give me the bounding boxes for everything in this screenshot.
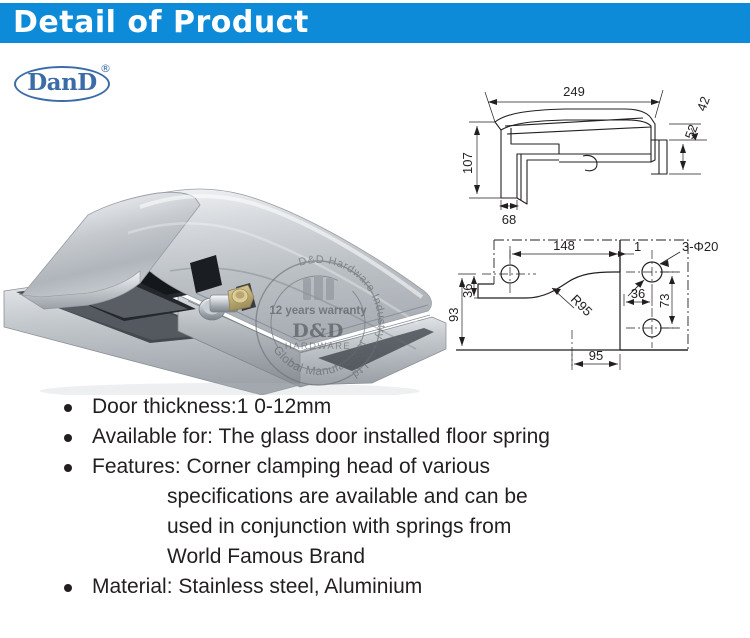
spec-row: Material: Stainless steel, Aluminium bbox=[62, 572, 702, 602]
dim-249: 249 bbox=[563, 84, 585, 99]
dim-52: 52 bbox=[682, 122, 701, 141]
spec-row: specifications are available and can be bbox=[62, 482, 702, 512]
svg-text:HARDWARE: HARDWARE bbox=[285, 341, 351, 352]
bullet-icon bbox=[64, 434, 72, 442]
spec-row: Features: Corner clamping head of variou… bbox=[62, 452, 702, 482]
page-title: Detail of Product bbox=[13, 2, 309, 44]
watermark-seal: D&D Hardware Industry Co.,Ltd 12 years w… bbox=[243, 248, 393, 398]
registered-trademark-icon: ® bbox=[100, 62, 111, 75]
bullet-icon bbox=[64, 584, 72, 592]
product-spec-list: Door thickness:1 0-12mm Available for: T… bbox=[62, 392, 702, 602]
dim-73: 73 bbox=[657, 294, 672, 308]
dim-3-phi-20: 3-Φ20 bbox=[682, 239, 718, 254]
dim-93: 93 bbox=[448, 308, 461, 322]
dim-R95: R95 bbox=[568, 292, 595, 319]
dim-107: 107 bbox=[460, 152, 475, 174]
dim-36-left: 36 bbox=[460, 284, 475, 298]
spec-text: specifications are available and can be bbox=[167, 482, 528, 512]
dim-148: 148 bbox=[553, 238, 575, 253]
spec-text: Available for: The glass door installed … bbox=[92, 422, 550, 452]
dim-1: 1 bbox=[634, 239, 641, 254]
spec-text: used in conjunction with springs from bbox=[167, 512, 511, 542]
dim-68: 68 bbox=[502, 212, 516, 227]
header-banner: Detail of Product bbox=[0, 3, 750, 43]
spec-text: World Famous Brand bbox=[167, 542, 365, 572]
bullet-icon bbox=[64, 404, 72, 412]
dim-36-right: 36 bbox=[631, 286, 645, 301]
bullet-icon bbox=[64, 464, 72, 472]
spec-row: World Famous Brand bbox=[62, 542, 702, 572]
spec-text: Features: Corner clamping head of variou… bbox=[92, 452, 490, 482]
spec-row: Available for: The glass door installed … bbox=[62, 422, 702, 452]
spec-text: Door thickness:1 0-12mm bbox=[92, 392, 331, 422]
spec-row: Door thickness:1 0-12mm bbox=[62, 392, 702, 422]
spec-row: used in conjunction with springs from bbox=[62, 512, 702, 542]
svg-text:12 years warranty: 12 years warranty bbox=[269, 305, 367, 317]
side-elevation-drawing: 249 107 68 42 52 bbox=[455, 78, 750, 228]
dim-95: 95 bbox=[589, 348, 603, 363]
spec-text: Material: Stainless steel, Aluminium bbox=[92, 572, 422, 602]
svg-text:D&D: D&D bbox=[292, 320, 344, 342]
plan-view-drawing: R95 3-Φ20 148 1 bbox=[448, 232, 750, 377]
dim-42: 42 bbox=[694, 94, 713, 113]
